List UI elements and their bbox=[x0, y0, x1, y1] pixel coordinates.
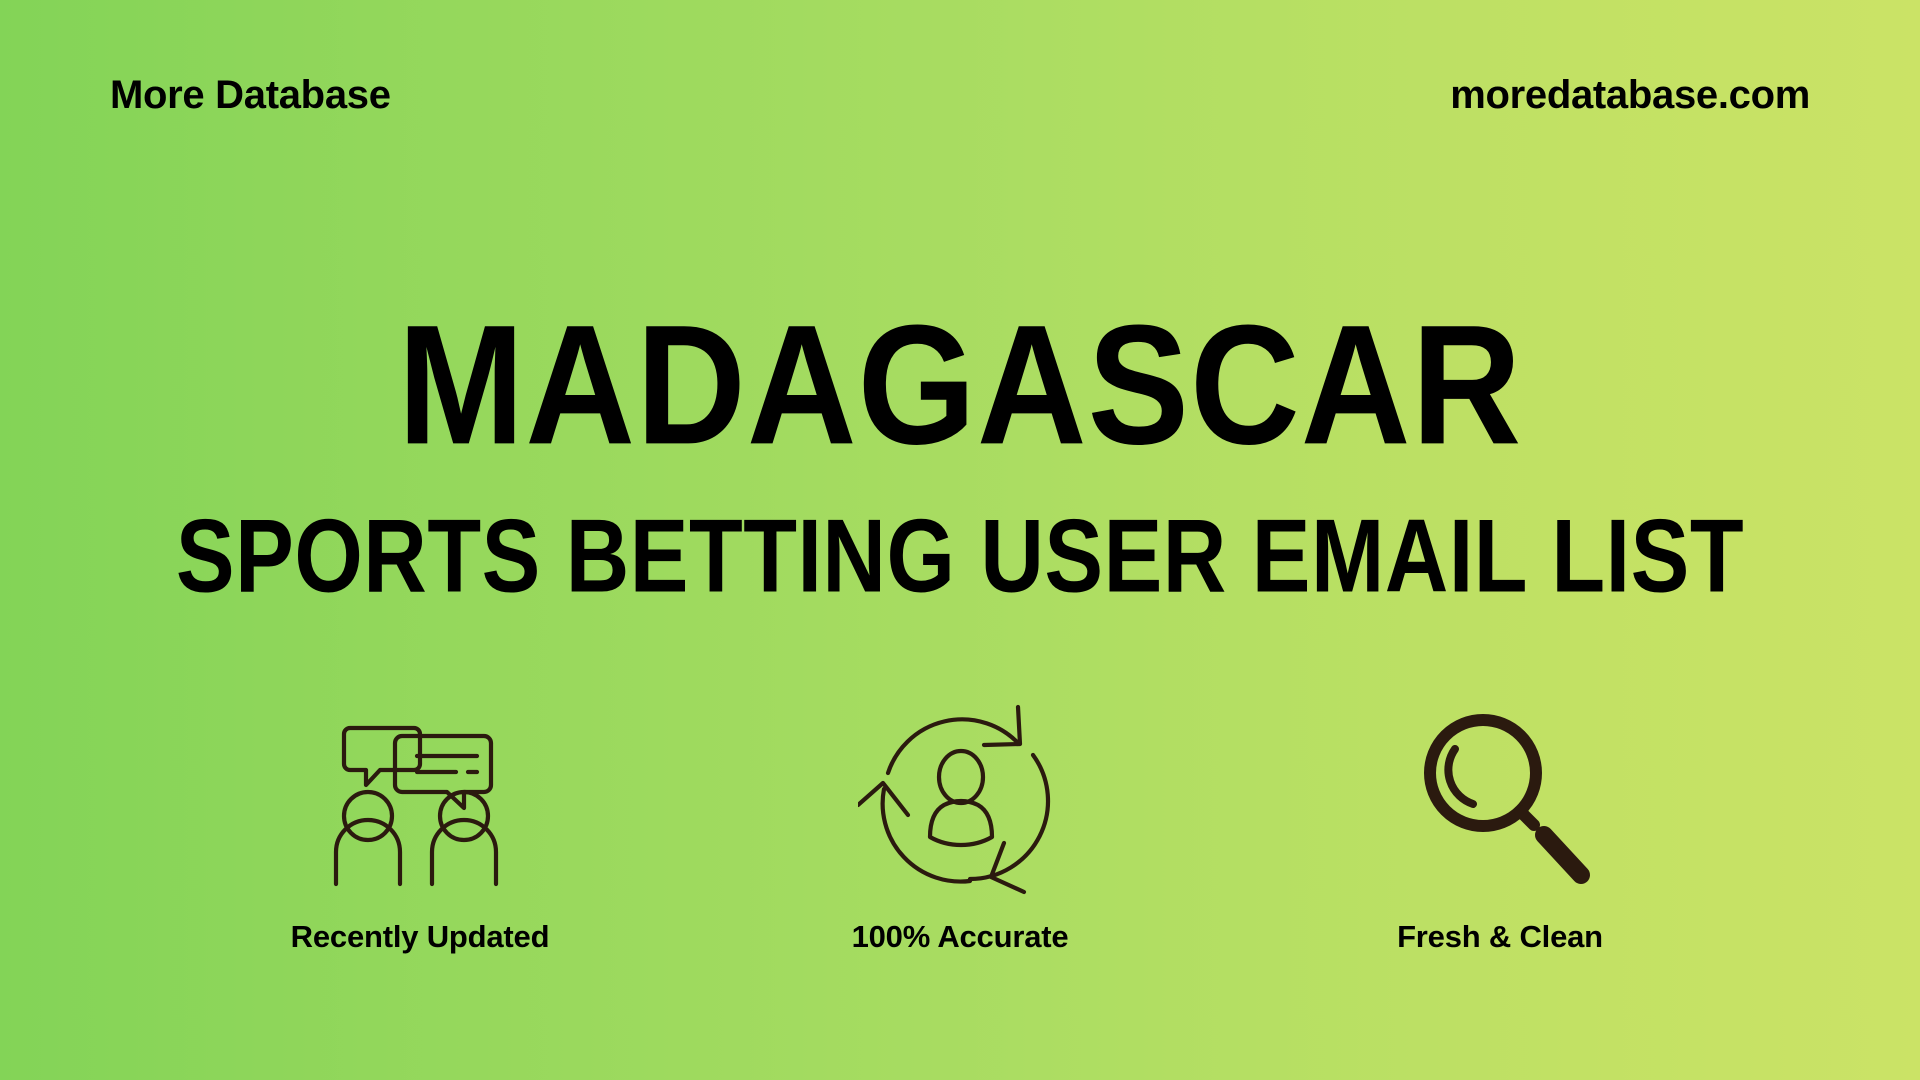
magnifying-glass-icon bbox=[1405, 690, 1595, 905]
banner-header: More Database moredatabase.com bbox=[0, 0, 1920, 190]
page-subtitle: SPORTS BETTING USER EMAIL LIST bbox=[0, 504, 1920, 608]
feature-label: Fresh & Clean bbox=[1397, 919, 1603, 955]
brand-name: More Database bbox=[110, 73, 391, 118]
feature-recently-updated: Recently Updated bbox=[240, 690, 600, 955]
feature-row: Recently Updated 1 bbox=[0, 690, 1920, 1030]
site-url: moredatabase.com bbox=[1450, 73, 1810, 118]
hero-section: MADAGASCAR SPORTS BETTING USER EMAIL LIS… bbox=[0, 300, 1920, 592]
person-refresh-cycle-icon bbox=[858, 690, 1063, 905]
two-people-chat-icon bbox=[320, 690, 520, 905]
feature-label: Recently Updated bbox=[291, 919, 550, 955]
feature-100-accurate: 100% Accurate bbox=[780, 690, 1140, 955]
page-title: MADAGASCAR bbox=[0, 300, 1920, 470]
feature-label: 100% Accurate bbox=[852, 919, 1069, 955]
feature-fresh-clean: Fresh & Clean bbox=[1320, 690, 1680, 955]
